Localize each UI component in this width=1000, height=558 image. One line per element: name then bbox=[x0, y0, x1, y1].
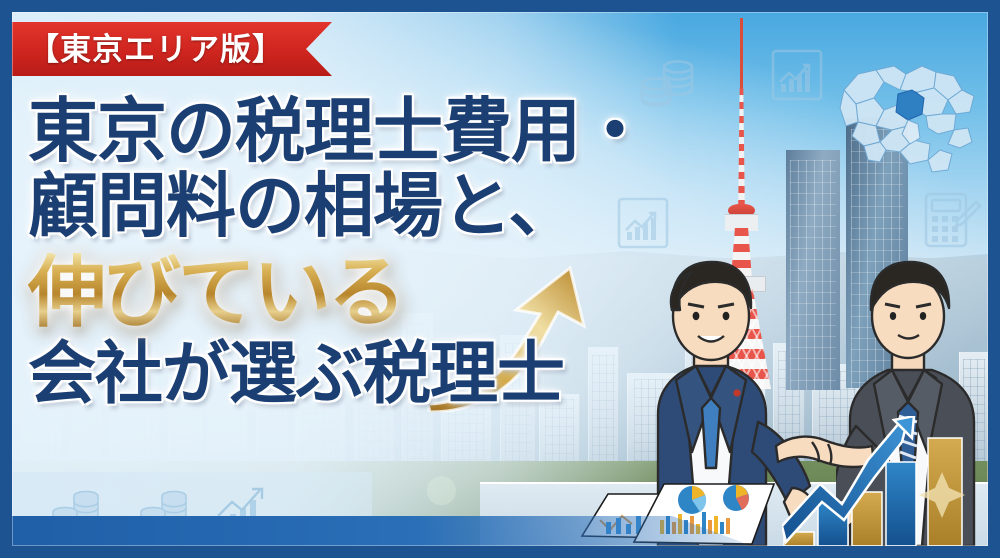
headline-line-2: 顧問料の相場と、 bbox=[28, 171, 668, 242]
tokyo-ward-map-icon bbox=[836, 52, 986, 180]
status-badge: 【東京エリア版】 bbox=[0, 22, 332, 76]
headline-line-1: 東京の税理士費用・ bbox=[28, 96, 668, 167]
headline-line-3: 伸びている bbox=[28, 253, 668, 333]
page-title: 東京の税理士費用・ 顧問料の相場と、 伸びている 会社が選ぶ税理士 bbox=[28, 96, 668, 410]
growth-bar-chart-icon bbox=[782, 416, 988, 546]
banner: 【東京エリア版】 東京の税理士費用・ 顧問料の相場と、 伸びている 会社が選ぶ税… bbox=[0, 0, 1000, 558]
headline-line-4: 会社が選ぶ税理士 bbox=[28, 340, 668, 409]
bar-chart-icon bbox=[770, 48, 824, 102]
badge-label: 【東京エリア版】 bbox=[0, 34, 284, 65]
bottom-blue-band bbox=[12, 516, 752, 546]
